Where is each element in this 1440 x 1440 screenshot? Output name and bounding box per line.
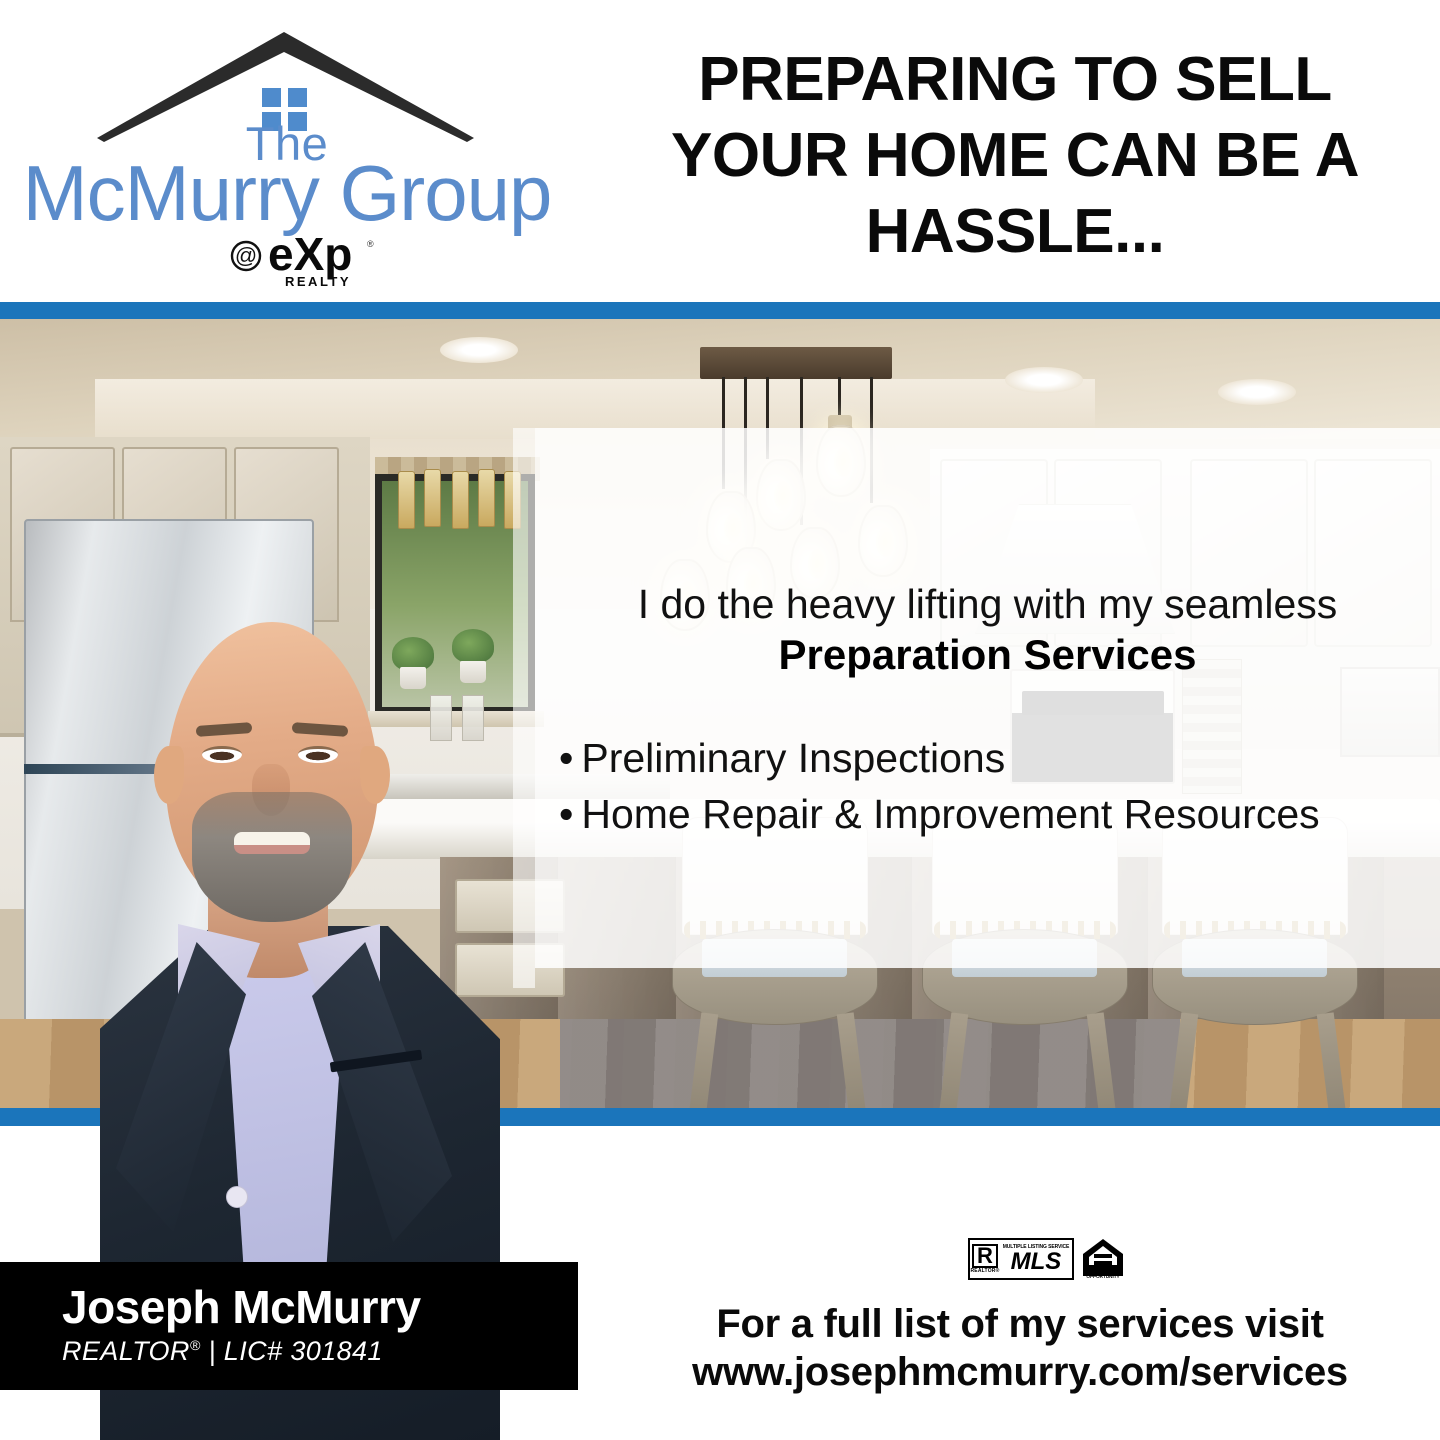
overlay-emphasis-text: Preparation Services [535, 630, 1440, 680]
realtor-word: REALTOR® [971, 1268, 1000, 1274]
oil-bottle [452, 471, 469, 529]
agent-ear-left [154, 746, 184, 804]
headline-line-3: HASSLE... [600, 194, 1430, 270]
divider-band-top [0, 302, 1440, 319]
list-item: •Preliminary Inspections [559, 730, 1439, 786]
eho-line-1: EQUAL HOUSING [1084, 1268, 1123, 1273]
flyer-canvas: The McMurry Group @ eXp ® REALTY PREPARI… [0, 0, 1440, 1440]
agent-title: REALTOR [62, 1336, 190, 1366]
agent-name: Joseph McMurry [62, 1280, 421, 1334]
agent-license: LIC# 301841 [224, 1336, 383, 1366]
barstool-leg [937, 1012, 968, 1108]
mls-badge-icon: MULTIPLE LISTING SERVICE MLS [1000, 1238, 1074, 1280]
agent-eye-left [202, 746, 242, 763]
pendant-mount [700, 347, 892, 379]
agent-beard [192, 792, 352, 922]
realtor-letter: R [972, 1244, 998, 1268]
bullet-marker: • [559, 791, 573, 837]
recessed-light [1005, 367, 1083, 393]
services-list: •Preliminary Inspections •Home Repair & … [559, 730, 1439, 842]
logo-company-name: McMurry Group [22, 148, 552, 239]
agent-shirt-button [226, 1186, 248, 1208]
equal-housing-label: EQUAL HOUSING OPPORTUNITY [1080, 1268, 1126, 1279]
barstool-leg [687, 1012, 718, 1108]
mls-title: MLS [1011, 1250, 1062, 1274]
agent-ear-right [360, 746, 390, 804]
oil-bottle [424, 469, 441, 527]
barstool-leg [837, 1012, 868, 1108]
svg-text:eXp: eXp [268, 230, 352, 280]
oil-bottle [478, 469, 495, 527]
headline-line-1: PREPARING TO SELL [600, 42, 1430, 118]
barstool-leg [1317, 1012, 1348, 1108]
registered-mark-icon: ® [190, 1337, 201, 1353]
bullet-marker: • [559, 735, 573, 781]
overlay-intro-text: I do the heavy lifting with my seamless [535, 580, 1440, 628]
svg-text:REALTY: REALTY [285, 274, 351, 289]
barstool-leg [1167, 1012, 1198, 1108]
list-item-label: Preliminary Inspections [581, 735, 1005, 781]
agent-nameplate: Joseph McMurry REALTOR® | LIC# 301841 [0, 1262, 578, 1390]
recessed-light [440, 337, 518, 363]
agent-mouth [234, 832, 310, 854]
recessed-light [1218, 379, 1296, 405]
agent-credentials: REALTOR® | LIC# 301841 [62, 1336, 383, 1367]
barstool-leg [1087, 1012, 1118, 1108]
cta-line-1: For a full list of my services visit [600, 1300, 1440, 1348]
footer-cta: For a full list of my services visit www… [600, 1300, 1440, 1396]
realtor-badge-icon: R REALTOR® [968, 1238, 1002, 1280]
header: The McMurry Group @ eXp ® REALTY PREPARI… [0, 0, 1440, 302]
list-item-label: Home Repair & Improvement Resources [581, 791, 1319, 837]
headline-line-2: YOUR HOME CAN BE A [600, 118, 1430, 194]
cta-website-url[interactable]: www.josephmcmurry.com/services [600, 1348, 1440, 1396]
credential-separator: | [208, 1336, 215, 1366]
svg-text:@: @ [235, 243, 257, 268]
equal-housing-badge-icon: EQUAL HOUSING OPPORTUNITY [1080, 1234, 1126, 1280]
oil-bottle [398, 471, 415, 529]
brand-logo[interactable]: The McMurry Group @ eXp ® REALTY [22, 8, 552, 293]
overlay-content: I do the heavy lifting with my seamless … [535, 428, 1440, 968]
list-item: •Home Repair & Improvement Resources [559, 786, 1439, 842]
eho-line-2: OPPORTUNITY [1086, 1274, 1119, 1279]
agent-eye-right [298, 746, 338, 763]
exp-realty-logo: @ eXp ® REALTY [22, 230, 552, 292]
svg-text:®: ® [367, 239, 374, 249]
trust-badges: R REALTOR® MULTIPLE LISTING SERVICE MLS … [968, 1228, 1132, 1280]
page-headline: PREPARING TO SELL YOUR HOME CAN BE A HAS… [600, 42, 1430, 270]
overlay-accent-strip [513, 428, 535, 988]
